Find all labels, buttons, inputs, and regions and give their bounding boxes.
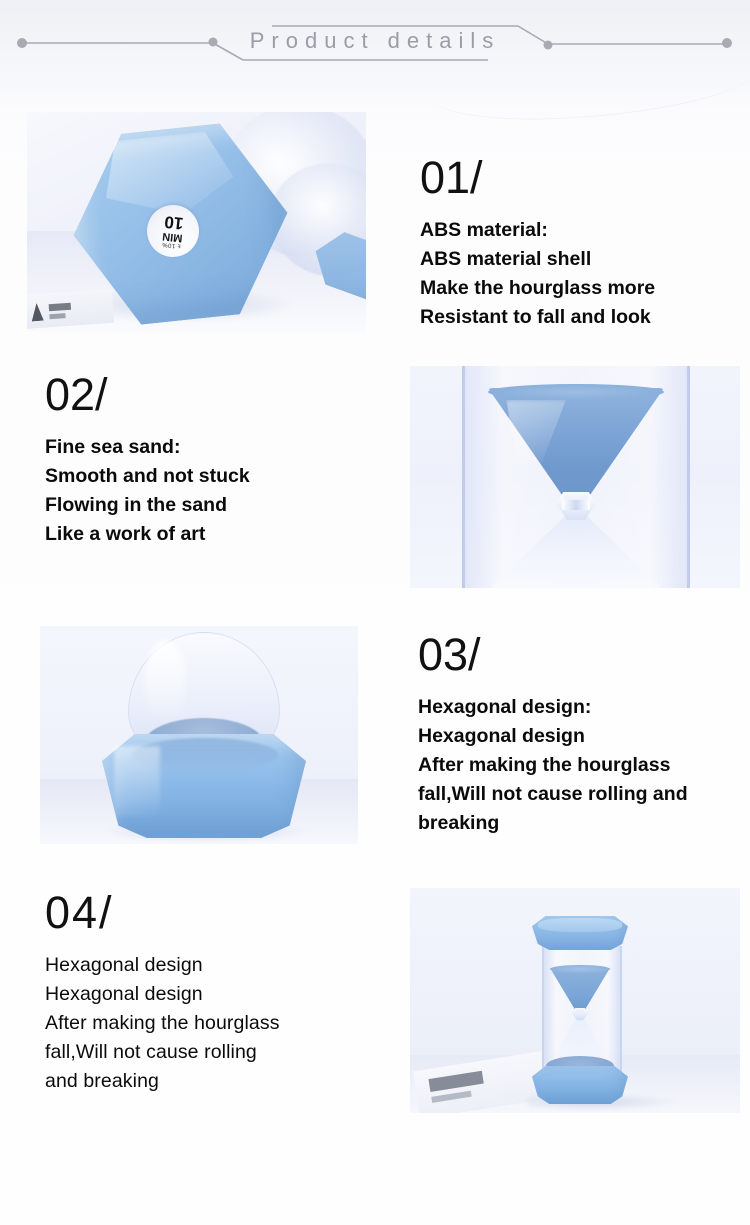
photo4-bottom-hex-cap (532, 1066, 628, 1104)
feature-line: fall,Will not cause rolling (45, 1038, 385, 1067)
feature-lines-04: Hexagonal design Hexagonal design After … (45, 951, 385, 1096)
photo4-sand-surface (550, 965, 610, 973)
feature-block-04: 04/ Hexagonal design Hexagonal design Af… (45, 890, 385, 1096)
feature-lines-01: ABS material: ABS material shell Make th… (420, 216, 655, 332)
feature-lines-03: Hexagonal design: Hexagonal design After… (418, 693, 748, 838)
photo2-sand-surface (488, 384, 664, 400)
photo4-top-cap-face (538, 918, 622, 932)
feature-number-01: 01/ (420, 155, 655, 200)
feature-line: and breaking (45, 1067, 385, 1096)
photo3-hex-highlight (114, 746, 160, 816)
feature-line: Resistant to fall and look (420, 303, 655, 332)
page-title: Product details (0, 28, 750, 54)
photo1-card-line-2 (49, 313, 65, 319)
feature-line: Hexagonal design (418, 722, 748, 751)
feature-line: ABS material shell (420, 245, 655, 274)
product-photo-hex-cap: ± 10% MIN 10 (27, 112, 366, 332)
photo2-neck-sparkle (562, 500, 590, 510)
feature-line: After making the hourglass (418, 751, 748, 780)
feature-line: Like a work of art (45, 520, 250, 549)
product-photo-full-hourglass: GLAS (410, 888, 740, 1113)
feature-number-03: 03/ (418, 632, 748, 677)
feature-line: Hexagonal design (45, 951, 385, 980)
photo1-foreground-card (27, 289, 114, 329)
photo3-glass-highlight (144, 640, 186, 726)
feature-block-03: 03/ Hexagonal design: Hexagonal design A… (418, 632, 748, 838)
photo4-paper-subline (431, 1091, 471, 1103)
feature-line: Hexagonal design (45, 980, 385, 1009)
photo1-card-line-1 (49, 303, 71, 312)
feature-line: Smooth and not stuck (45, 462, 250, 491)
photo1-card-glyph (31, 303, 44, 322)
feature-lines-02: Fine sea sand: Smooth and not stuck Flow… (45, 433, 250, 549)
feature-line: Make the hourglass more (420, 274, 655, 303)
feature-line: breaking (418, 809, 748, 838)
feature-line: Flowing in the sand (45, 491, 250, 520)
feature-line: After making the hourglass (45, 1009, 385, 1038)
feature-line: Fine sea sand: (45, 433, 250, 462)
feature-line: Hexagonal design: (418, 693, 748, 722)
feature-line: fall,Will not cause rolling and (418, 780, 748, 809)
feature-line: ABS material: (420, 216, 655, 245)
page-header: Product details (0, 0, 750, 92)
feature-block-01: 01/ ABS material: ABS material shell Mak… (420, 155, 655, 332)
product-photo-hex-base (40, 626, 358, 844)
feature-block-02: 02/ Fine sea sand: Smooth and not stuck … (45, 372, 250, 549)
label-value: 10 (164, 213, 185, 232)
feature-number-04: 04/ (45, 890, 385, 935)
photo4-paper-watermark: GLAS (428, 1071, 483, 1092)
product-photo-sand-macro (410, 366, 740, 588)
feature-number-02: 02/ (45, 372, 250, 417)
